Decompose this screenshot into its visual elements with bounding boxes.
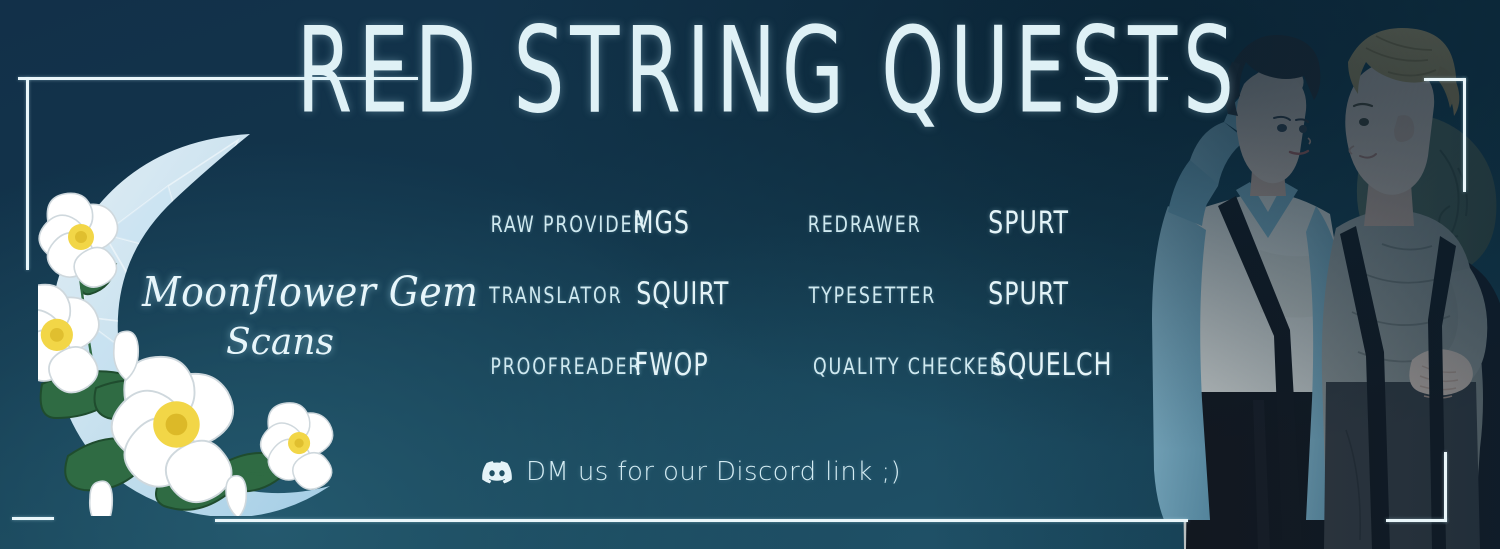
credit-value-quality-checker: SQUELCH — [992, 347, 1113, 383]
bottom-rule — [215, 519, 1188, 522]
credit-label-translator: TRANSLATOR — [489, 284, 622, 309]
credit-value-proofreader: FWOP — [635, 347, 709, 383]
credit-label-typesetter: TYPESETTER — [809, 284, 936, 309]
credit-value-typesetter: SPURT — [988, 276, 1069, 312]
discord-icon — [482, 461, 512, 484]
credit-row: PROOFREADER FWOP QUALITY CHECKER SQUELCH — [478, 340, 1098, 380]
moonflower-gem-scans-logo: Moonflower Gem Scans — [38, 126, 438, 516]
credit-label-raw-provider: RAW PROVIDER — [491, 213, 648, 238]
credit-label-quality-checker: QUALITY CHECKER — [813, 355, 1004, 380]
credit-label-proofreader: PROOFREADER — [490, 355, 642, 380]
credit-row: TRANSLATOR SQUIRT TYPESETTER SPURT — [478, 269, 1098, 309]
page-title: RED STRING QUESTS — [504, 4, 1032, 137]
credits-list: RAW PROVIDER MGS REDRAWER SPURT TRANSLAT… — [478, 198, 1098, 394]
discord-text: DM us for our Discord link ;) — [526, 457, 901, 487]
frame-bracket-bottom-right-vertical — [1444, 452, 1447, 522]
credits-banner: Moonflower Gem Scans RED STRING QUESTS R… — [0, 0, 1500, 549]
frame-bracket-top-right-horizontal — [1424, 78, 1466, 81]
frame-bracket-bottom-right-horizontal — [1386, 519, 1447, 522]
frame-bracket-bottom-left — [12, 517, 54, 520]
credit-label-redrawer: REDRAWER — [808, 213, 922, 238]
credit-value-translator: SQUIRT — [636, 276, 729, 312]
logo-wordmark-line1: Moonflower Gem — [142, 272, 418, 313]
credit-value-raw-provider: MGS — [633, 205, 690, 241]
discord-callout[interactable]: DM us for our Discord link ;) — [482, 457, 901, 487]
frame-bracket-top-left-vertical — [26, 78, 29, 270]
credit-row: RAW PROVIDER MGS REDRAWER SPURT — [478, 198, 1098, 238]
credit-value-redrawer: SPURT — [988, 205, 1069, 241]
logo-wordmark-line2: Scans — [130, 322, 430, 363]
frame-bracket-top-right-vertical — [1463, 78, 1466, 192]
